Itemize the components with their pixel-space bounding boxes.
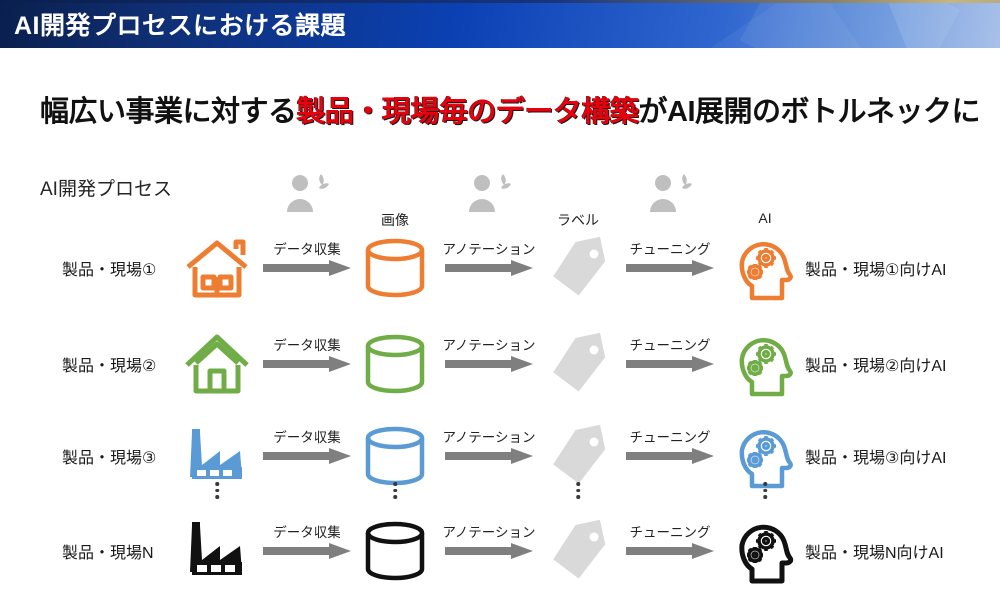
arrow-annotation xyxy=(445,260,533,276)
arrow-tuning xyxy=(626,356,714,372)
database-icon xyxy=(362,425,428,487)
headline-part1: 幅広い事業に対する xyxy=(40,96,297,128)
step-caption-tune: チューニング xyxy=(630,426,711,446)
vertical-ellipsis xyxy=(393,482,397,499)
row-source-label: 製品・現場① xyxy=(62,256,156,280)
arrow-annotation xyxy=(445,356,533,372)
header-top-accent-line xyxy=(0,0,1000,3)
arrow-annotation xyxy=(445,543,533,559)
step-caption-collect: データ収集 xyxy=(273,334,341,354)
vertical-ellipsis xyxy=(763,482,767,499)
ai-head-icon xyxy=(732,236,798,300)
factory-icon xyxy=(184,425,250,487)
database-icon xyxy=(362,237,428,299)
process-row: 製品・現場② データ収集 xyxy=(0,318,1000,410)
house-icon xyxy=(184,237,250,299)
headline-highlight: 製品・現場毎のデータ構築 xyxy=(297,96,639,128)
factory-icon xyxy=(184,520,250,582)
arrow-annotation xyxy=(445,448,533,464)
step-caption-annotate: アノテーション xyxy=(442,521,535,541)
database-icon xyxy=(362,333,428,395)
step-caption-tune: チューニング xyxy=(630,521,711,541)
ai-head-icon xyxy=(732,424,798,488)
step-caption-collect: データ収集 xyxy=(273,521,341,541)
page-title: AI開発プロセスにおける課題 xyxy=(14,6,346,42)
process-row: 製品・現場③ データ収集 xyxy=(0,410,1000,502)
arrow-data-collection xyxy=(263,448,351,464)
step-caption-collect: データ収集 xyxy=(273,238,341,258)
arrow-tuning xyxy=(626,543,714,559)
step-caption-annotate: アノテーション xyxy=(442,426,535,446)
ai-head-icon xyxy=(732,519,798,583)
process-row: 製品・現場N データ収集 xyxy=(0,505,1000,597)
row-output-label: 製品・現場①向けAI xyxy=(805,256,946,280)
tuning-actor-icon xyxy=(646,172,694,214)
house-outline-icon xyxy=(184,333,250,395)
row-output-label: 製品・現場N向けAI xyxy=(805,539,944,563)
step-caption-annotate: アノテーション xyxy=(442,238,535,258)
vertical-ellipsis xyxy=(215,482,219,499)
step-caption-annotate: アノテーション xyxy=(442,334,535,354)
row-source-label: 製品・現場② xyxy=(62,352,156,376)
arrow-tuning xyxy=(626,448,714,464)
row-output-label: 製品・現場②向けAI xyxy=(805,352,946,376)
process-heading: AI開発プロセス xyxy=(40,174,172,201)
arrow-tuning xyxy=(626,260,714,276)
data-collection-actor-icon xyxy=(283,172,331,214)
ai-development-process-diagram: AI開発プロセス 画像 ラベル AI 製品・現場① xyxy=(0,160,1000,590)
tag-icon xyxy=(547,522,609,580)
ai-head-icon xyxy=(732,332,798,396)
arrow-data-collection xyxy=(263,543,351,559)
step-caption-collect: データ収集 xyxy=(273,426,341,446)
arrow-data-collection xyxy=(263,260,351,276)
title-bar: AI開発プロセスにおける課題 xyxy=(0,0,1000,48)
annotation-actor-icon xyxy=(465,172,513,214)
headline-part2: がAI展開のボトルネックに xyxy=(639,96,981,128)
database-icon xyxy=(362,520,428,582)
row-source-label: 製品・現場N xyxy=(62,539,154,563)
arrow-data-collection xyxy=(263,356,351,372)
process-row: 製品・現場① データ収集 xyxy=(0,222,1000,314)
step-caption-tune: チューニング xyxy=(630,334,711,354)
row-source-label: 製品・現場③ xyxy=(62,444,156,468)
step-caption-tune: チューニング xyxy=(630,238,711,258)
tag-icon xyxy=(547,239,609,297)
headline: 幅広い事業に対する製品・現場毎のデータ構築がAI展開のボトルネックに xyxy=(40,88,980,130)
tag-icon xyxy=(547,335,609,393)
tag-icon xyxy=(547,427,609,485)
vertical-ellipsis xyxy=(576,482,580,499)
row-output-label: 製品・現場③向けAI xyxy=(805,444,946,468)
